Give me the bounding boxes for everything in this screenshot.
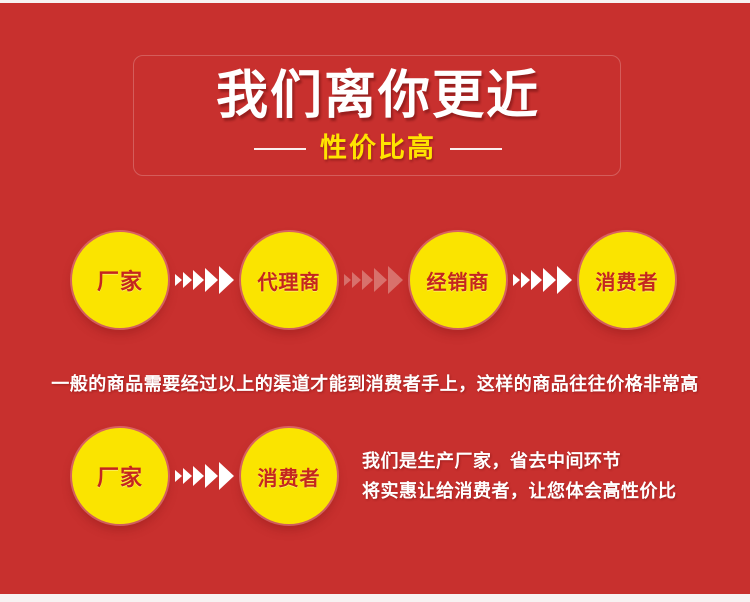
flow-node-label: 代理商 [258, 266, 321, 295]
arrow-chevrons-icon [168, 266, 241, 294]
page-title: 我们离你更近 [134, 64, 622, 128]
flow-chain-top: 厂家 代理商 经销商 消费者 [72, 232, 675, 328]
flow-node-agent: 代理商 [241, 232, 337, 328]
rule-right-decoration [450, 148, 502, 150]
caption-top-flow: 一般的商品需要经过以上的渠道才能到消费者手上，这样的商品往往价格非常高 [0, 372, 750, 398]
promo-banner: 我们离你更近 性价比高 厂家 代理商 经销商 消费者 一般的商品需要经过以上的 [0, 0, 750, 602]
flow-node-manufacturer: 厂家 [72, 232, 168, 328]
top-edge-strip [0, 0, 750, 3]
header-frame: 我们离你更近 性价比高 [133, 55, 621, 176]
rule-left-decoration [254, 148, 306, 150]
bottom-edge-strip [0, 594, 750, 602]
page-subtitle: 性价比高 [320, 132, 436, 166]
flow-node-consumer-direct: 消费者 [241, 428, 337, 524]
arrow-chevrons-muted-icon [337, 266, 410, 294]
arrow-chevrons-icon [168, 462, 241, 490]
flow-node-label: 经销商 [427, 266, 490, 295]
flow-node-distributor: 经销商 [410, 232, 506, 328]
caption-bottom-flow: 我们是生产厂家，省去中间环节 将实惠让给消费者，让您体会高性价比 [362, 447, 702, 507]
caption-line: 我们是生产厂家，省去中间环节 [362, 447, 702, 477]
flow-node-manufacturer-direct: 厂家 [72, 428, 168, 524]
flow-node-label: 消费者 [258, 462, 321, 491]
arrow-chevrons-icon [506, 266, 579, 294]
flow-node-consumer: 消费者 [579, 232, 675, 328]
caption-line: 将实惠让给消费者，让您体会高性价比 [362, 477, 702, 507]
flow-node-label: 消费者 [596, 266, 659, 295]
flow-node-label: 厂家 [97, 264, 143, 296]
subtitle-row: 性价比高 [134, 132, 622, 166]
flow-chain-bottom: 厂家 消费者 [72, 428, 337, 524]
flow-node-label: 厂家 [97, 460, 143, 492]
